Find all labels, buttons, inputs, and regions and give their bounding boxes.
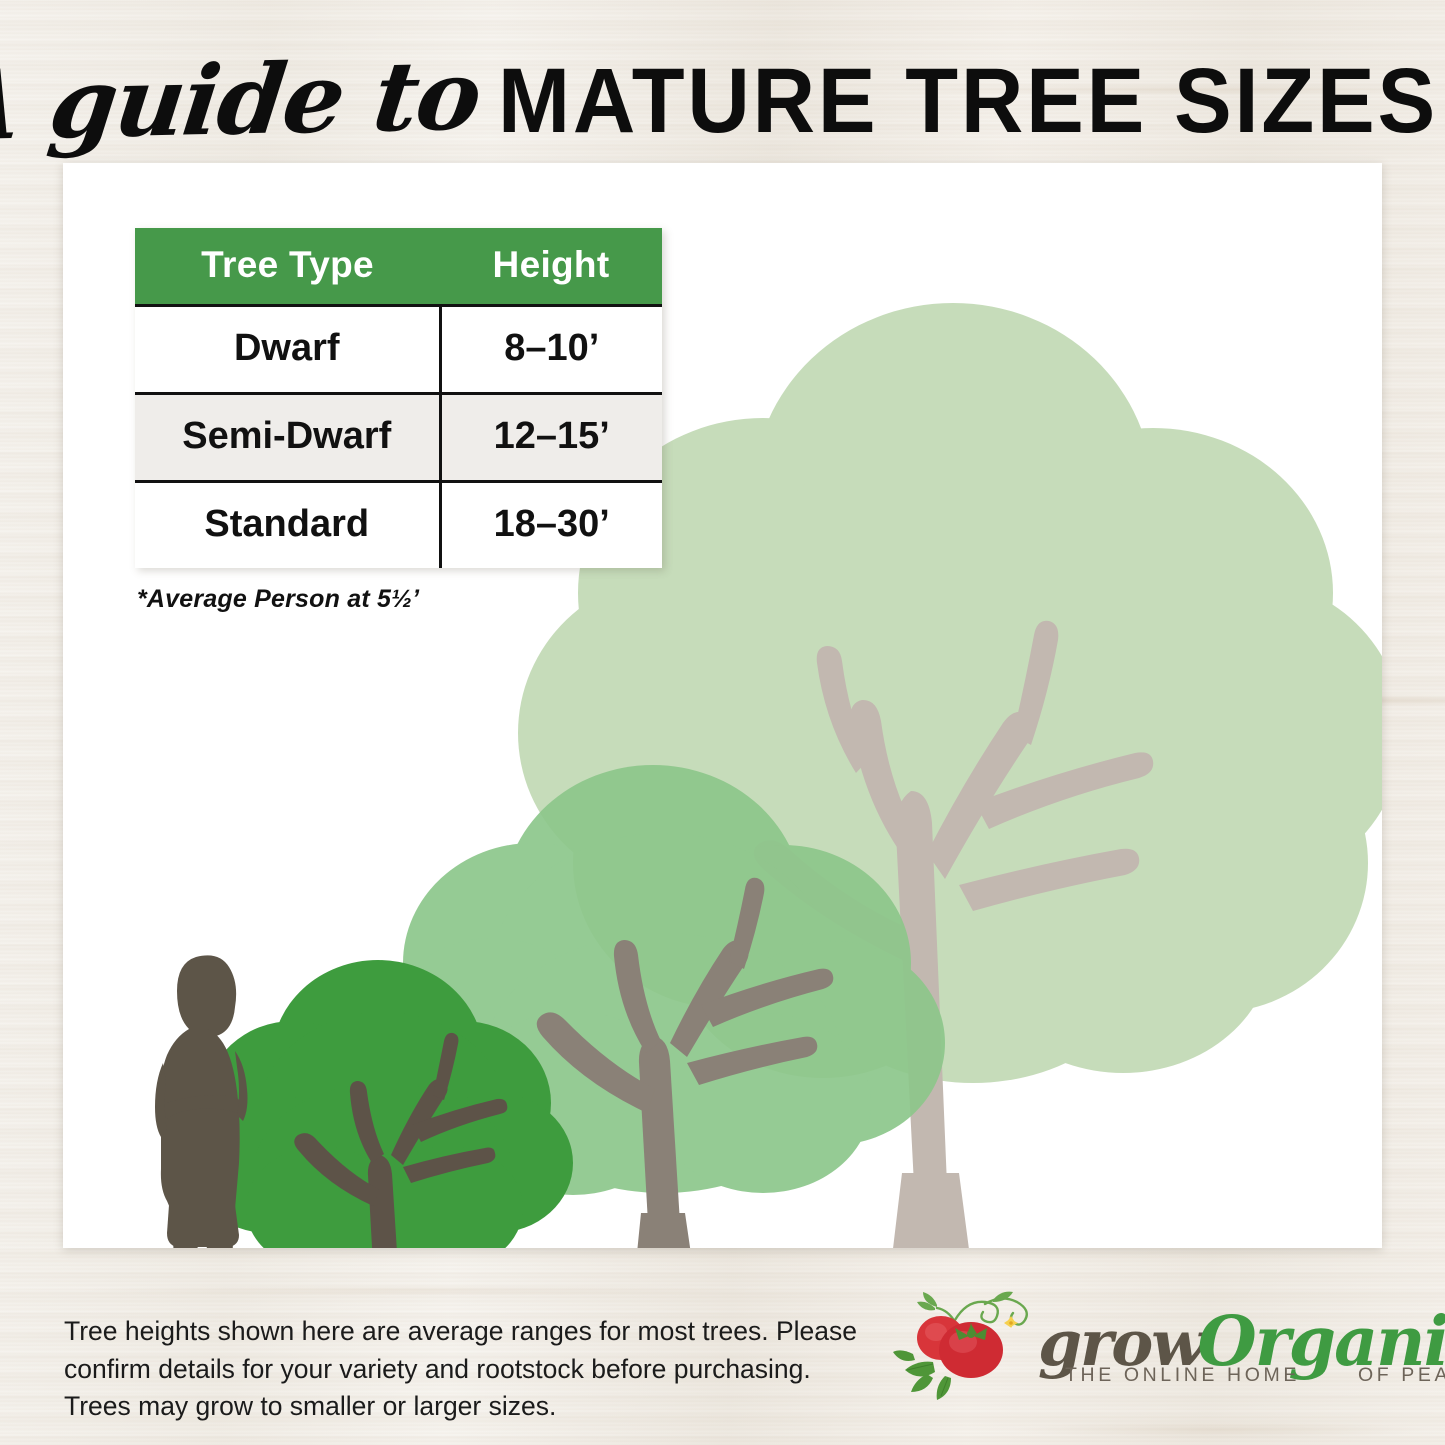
grow-organic-logo[interactable]: growOrganic.COM THE ONLINE HOMEOF PEACEF… [893,1288,1393,1408]
table-footnote: *Average Person at 5½’ [137,585,419,614]
title-caps-text: MATURE TREE SIZES [498,55,1438,147]
column-header-height: Height [440,228,662,306]
logo-tagline: THE ONLINE HOMEOF PEACEFUL VALLEY [1065,1364,1445,1387]
table-row: Dwarf 8–10’ [135,306,662,394]
logo-tagline-part1: THE ONLINE HOME [1065,1364,1300,1386]
logo-tagline-part2: OF PEACEFUL VALLEY [1358,1364,1445,1386]
cell-height-standard: 18–30’ [440,482,662,569]
flower-icon [1004,1316,1018,1328]
footer-disclaimer: Tree heights shown here are average rang… [64,1313,884,1426]
table-header-row: Tree Type Height [135,228,662,306]
table-row: Standard 18–30’ [135,482,662,569]
cell-height-dwarf: 8–10’ [440,306,662,394]
cell-tree-type-standard: Standard [135,482,440,569]
cell-height-semi-dwarf: 12–15’ [440,394,662,482]
title-script-text: A guide to [0,47,485,154]
page-title: A guide toMATURE TREE SIZES [0,46,1445,156]
person-silhouette [153,955,248,1248]
column-header-tree-type: Tree Type [135,228,440,306]
table-row: Semi-Dwarf 12–15’ [135,394,662,482]
cell-tree-type-semi-dwarf: Semi-Dwarf [135,394,440,482]
tree-size-table: Tree Type Height Dwarf 8–10’ Semi-Dwarf … [135,228,662,568]
tomato-illustration [893,1288,1053,1408]
cell-tree-type-dwarf: Dwarf [135,306,440,394]
infographic-card: Tree Type Height Dwarf 8–10’ Semi-Dwarf … [63,163,1382,1248]
